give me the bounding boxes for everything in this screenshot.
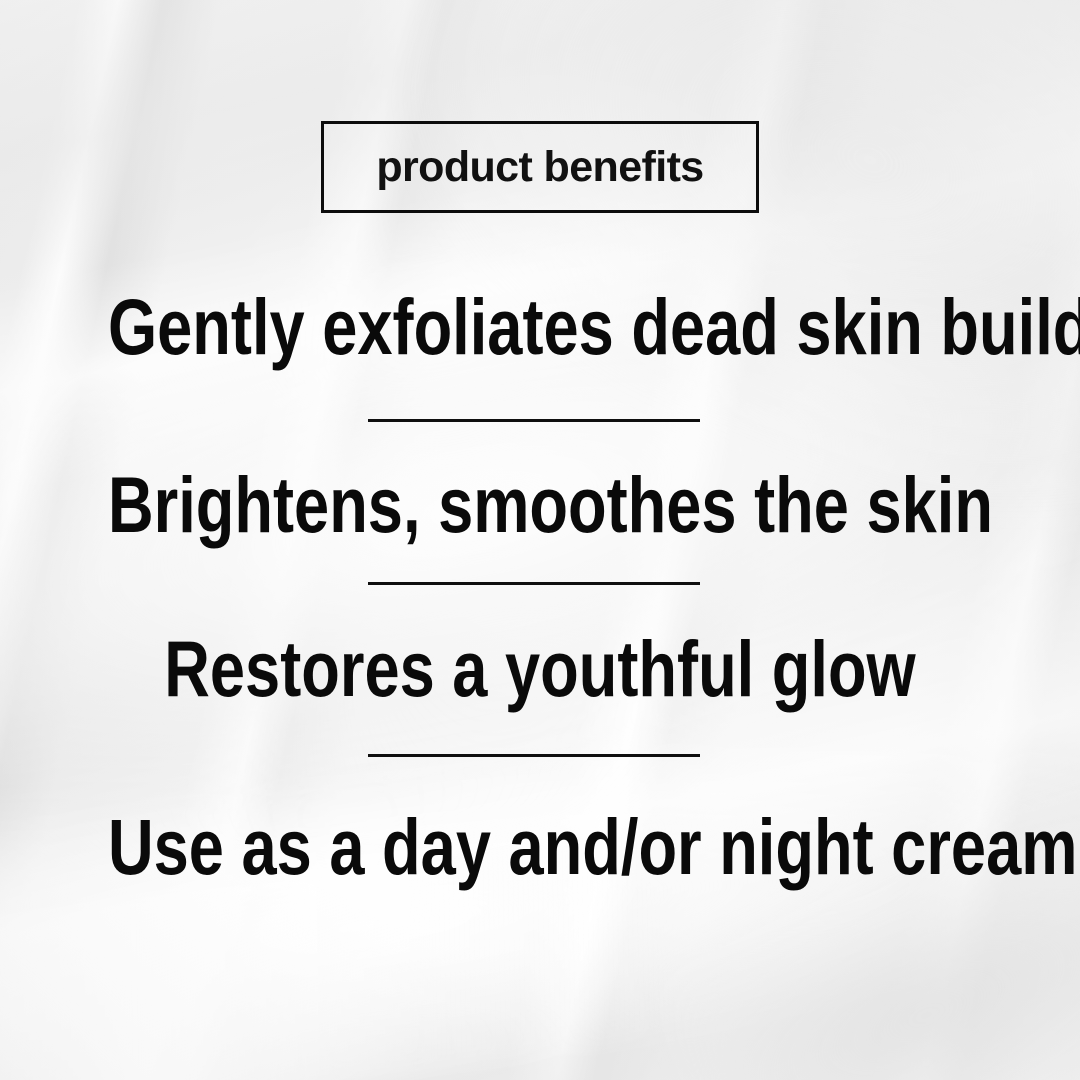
poster-content: product benefits Gently exfoliates dead … (0, 0, 1080, 1080)
benefit-item-4: Use as a day and/or night cream (108, 807, 972, 886)
benefit-item-3: Restores a youthful glow (108, 629, 972, 708)
divider-2 (368, 582, 700, 585)
divider-1 (368, 419, 700, 422)
header-badge-wrapper: product benefits (0, 121, 1080, 213)
product-benefits-poster: product benefits Gently exfoliates dead … (0, 0, 1080, 1080)
product-benefits-badge: product benefits (321, 121, 759, 213)
benefit-item-2: Brightens, smoothes the skin (108, 465, 972, 544)
page-title: product benefits (376, 146, 703, 189)
benefit-item-1: Gently exfoliates dead skin build up (108, 287, 972, 366)
divider-3 (368, 754, 700, 757)
